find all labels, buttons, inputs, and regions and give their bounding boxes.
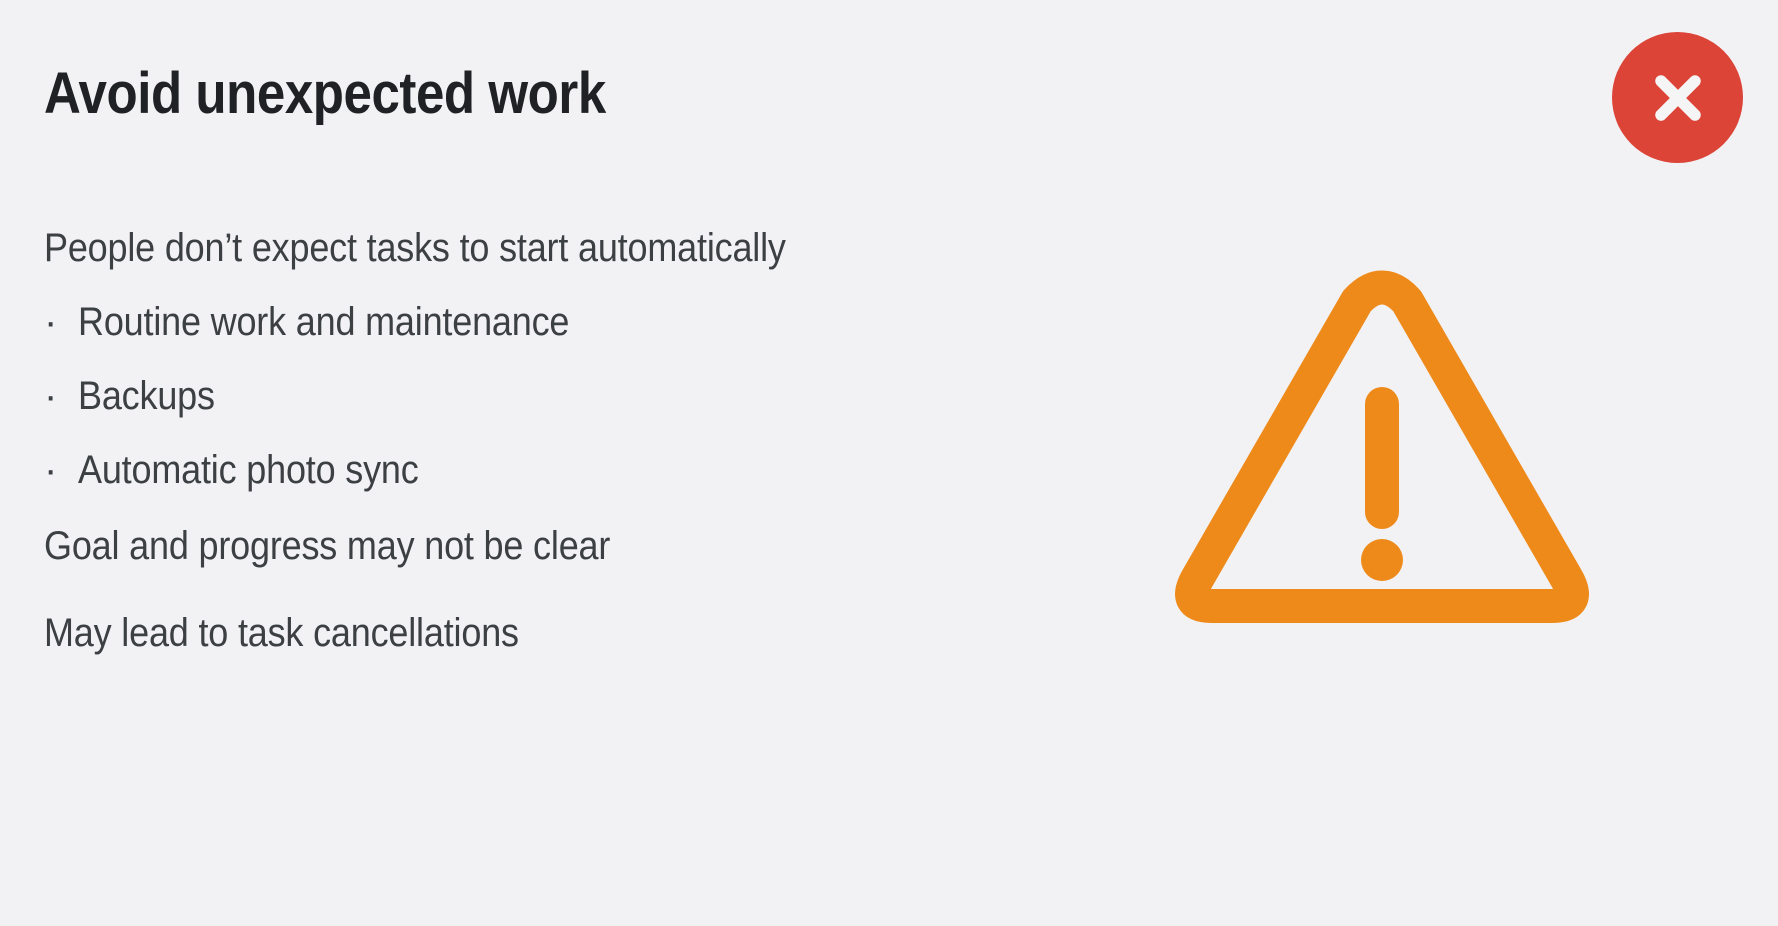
list-item-label: Routine work and maintenance xyxy=(78,302,569,342)
bullet-list: · Routine work and maintenance · Backups… xyxy=(44,302,1044,490)
bullet-dot-icon: · xyxy=(44,450,78,490)
paragraph-cancellations: May lead to task cancellations xyxy=(44,613,944,653)
list-item-label: Backups xyxy=(78,376,215,416)
bullet-dot-icon: · xyxy=(44,302,78,342)
close-button[interactable] xyxy=(1612,32,1743,163)
body-copy: People don’t expect tasks to start autom… xyxy=(44,228,1044,653)
list-item: · Routine work and maintenance xyxy=(44,302,1044,342)
close-x-icon xyxy=(1642,62,1714,134)
list-item-label: Automatic photo sync xyxy=(78,450,419,490)
bullet-dot-icon: · xyxy=(44,376,78,416)
lead-statement: People don’t expect tasks to start autom… xyxy=(44,228,944,268)
list-item: · Automatic photo sync xyxy=(44,450,1044,490)
paragraph-goal-progress: Goal and progress may not be clear xyxy=(44,526,944,566)
list-item: · Backups xyxy=(44,376,1044,416)
slide-canvas: Avoid unexpected work People don’t expec… xyxy=(0,0,1778,926)
page-title: Avoid unexpected work xyxy=(44,61,606,128)
warning-triangle-icon xyxy=(1172,268,1592,654)
